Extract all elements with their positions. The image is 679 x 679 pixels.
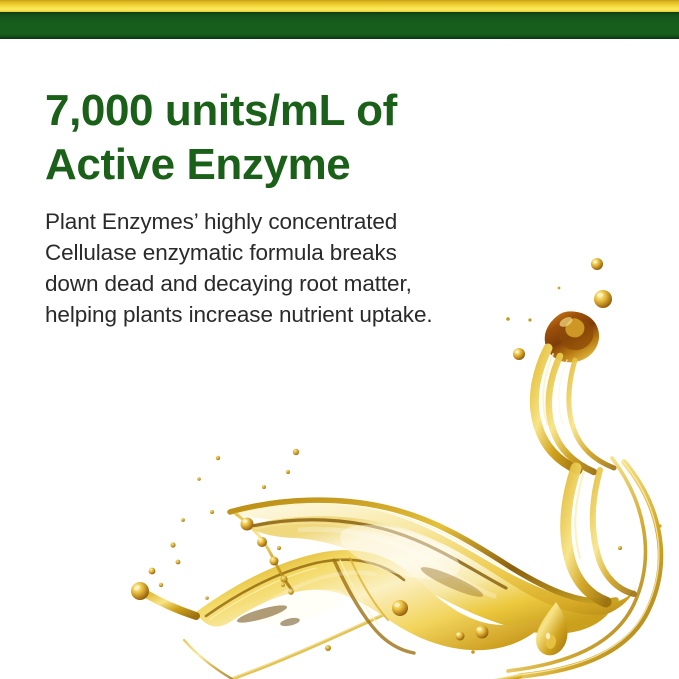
splash-right-column <box>566 468 606 602</box>
splash-bottom-knot <box>392 600 408 616</box>
header-bars <box>0 0 679 39</box>
splash-tail-left <box>146 594 196 616</box>
green-brand-bar <box>0 12 679 39</box>
splash-tail-left-knob <box>131 582 149 600</box>
product-feature-panel: 7,000 units/mL of Active Enzyme Plant En… <box>0 0 679 679</box>
oil-splash-image <box>0 230 679 679</box>
splash-right-column-2 <box>593 470 634 594</box>
page-title: 7,000 units/mL of Active Enzyme <box>45 84 505 192</box>
splash-filament-bottom <box>184 640 232 679</box>
splash-stream-c <box>569 360 614 468</box>
gold-accent-bar <box>0 0 679 12</box>
